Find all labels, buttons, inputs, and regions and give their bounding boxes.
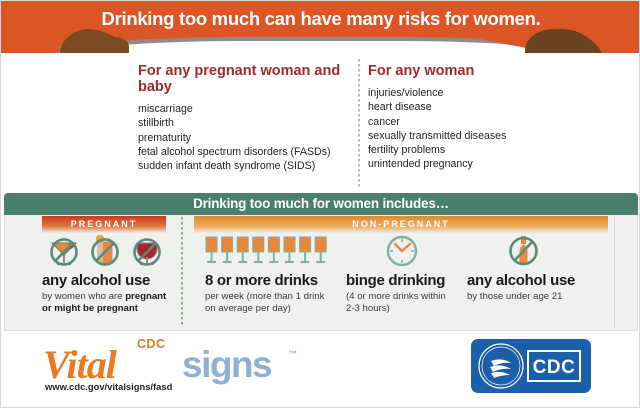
list-item: cancer — [368, 115, 543, 129]
list-item: heart disease — [368, 100, 543, 114]
panel-edge — [614, 217, 615, 327]
panel-sub-line1: by those under age 21 — [467, 291, 562, 302]
risks-pregnant-column: For any pregnant woman and baby miscarri… — [138, 63, 353, 173]
website-url[interactable]: www.cdc.gov/vitalsigns/fasd — [45, 381, 172, 392]
logo-signs-text: signs — [182, 344, 271, 386]
cdc-logo-text: CDC — [527, 350, 581, 382]
vital-signs-infographic: Drinking too much can have many risks fo… — [0, 0, 640, 408]
panel-title: any alcohol use — [42, 272, 174, 289]
panel-under-21-any-alcohol: any alcohol use by those under age 21 — [467, 235, 607, 303]
section-banner: Drinking too much for women includes… — [4, 193, 638, 215]
category-label-non-pregnant: NON-PREGNANT — [194, 216, 608, 233]
panel-subtitle: by women who are pregnant or might be pr… — [42, 291, 174, 315]
panel-title: binge drinking — [346, 272, 458, 289]
list-item: sexually transmitted diseases — [368, 129, 543, 143]
hhs-seal-icon — [471, 339, 531, 393]
panel-sub-line2: on average per day) — [205, 303, 291, 314]
crossed-out-bottle-icon — [467, 235, 607, 269]
panel-title: 8 or more drinks — [205, 272, 333, 289]
page-title: Drinking too much can have many risks fo… — [1, 8, 640, 30]
logo-cdc-text: CDC — [137, 337, 166, 351]
panel-eight-or-more-drinks: 8 or more drinks per week (more than 1 d… — [205, 235, 333, 315]
risks-pregnant-heading: For any pregnant woman and baby — [138, 63, 353, 95]
risks-pregnant-list: miscarriage stillbirth prematurity fetal… — [138, 102, 353, 173]
panel-subtitle: per week (more than 1 drink on average p… — [205, 291, 333, 315]
list-item: miscarriage — [138, 102, 353, 116]
panel-subtitle: by those under age 21 — [467, 291, 607, 303]
clock-icon — [346, 235, 458, 269]
panel-sub-line1: per week (more than 1 drink — [205, 291, 324, 302]
eight-champagne-glasses-icon — [205, 235, 333, 269]
panel-divider — [181, 217, 183, 327]
panel-binge-drinking: binge drinking (4 or more drinks within … — [346, 235, 458, 315]
list-item: sudden infant death syndrome (SIDS) — [138, 159, 353, 173]
category-label-pregnant: PREGNANT — [42, 216, 166, 233]
risks-any-woman-column: For any woman injuries/violence heart di… — [368, 63, 543, 172]
risks-any-woman-heading: For any woman — [368, 63, 543, 79]
list-item: unintended pregnancy — [368, 157, 543, 171]
panel-sub-plain: by women who are — [42, 291, 125, 302]
panel-pregnant-any-alcohol: any alcohol use by women who are pregnan… — [42, 235, 174, 315]
crossed-out-drinks-icon — [42, 235, 174, 269]
list-item: fertility problems — [368, 143, 543, 157]
panel-sub-line1: (4 or more drinks within — [346, 291, 446, 302]
panel-sub-bold-1: pregnant — [125, 291, 166, 302]
panel-title: any alcohol use — [467, 272, 607, 289]
list-item: stillbirth — [138, 116, 353, 130]
logo-trademark: ™ — [288, 349, 297, 359]
list-item: injuries/violence — [368, 86, 543, 100]
column-divider — [358, 59, 360, 187]
panel-sub-line2: 2-3 hours) — [346, 303, 390, 314]
panel-subtitle: (4 or more drinks within 2-3 hours) — [346, 291, 458, 315]
panel-sub-bold-2: or might be pregnant — [42, 303, 138, 314]
footer: Vital CDC signs ™ www.cdc.gov/vitalsigns… — [1, 331, 640, 408]
risks-any-woman-list: injuries/violence heart disease cancer s… — [368, 86, 543, 172]
hhs-cdc-seal: CDC — [471, 339, 591, 393]
list-item: prematurity — [138, 131, 353, 145]
list-item: fetal alcohol spectrum disorders (FASDs) — [138, 145, 353, 159]
risks-section: For any pregnant woman and baby miscarri… — [1, 53, 640, 191]
